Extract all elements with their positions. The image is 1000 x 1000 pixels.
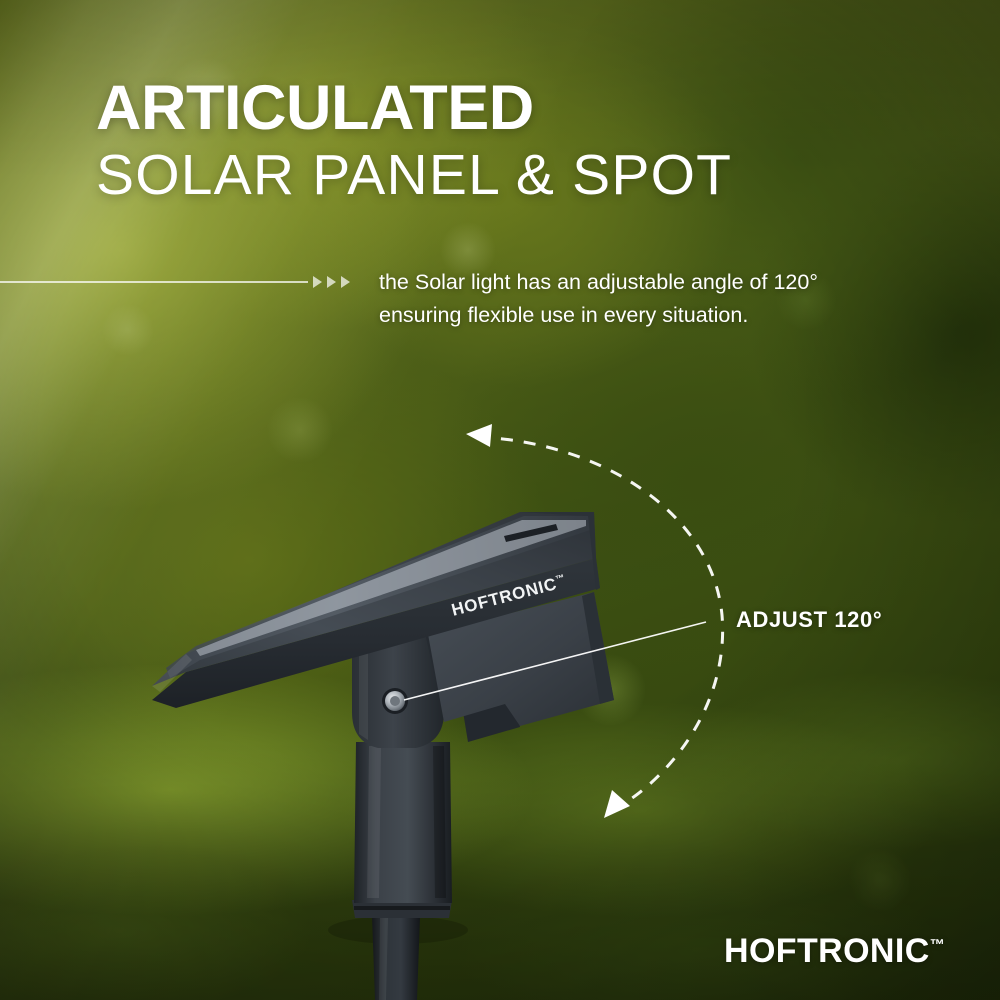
divider-line [0, 281, 308, 283]
brand-tm: ™ [930, 937, 945, 954]
triangle-right-icon [327, 276, 336, 288]
divider [0, 275, 350, 289]
panel-back-plate-edge [582, 592, 614, 704]
ground-stake-post-icon [372, 916, 420, 1000]
hinge-arm [424, 616, 488, 718]
leader-line-icon [404, 622, 706, 700]
post-collar-groove [354, 906, 450, 910]
description-line-2: ensuring flexible use in every situation… [379, 299, 959, 332]
brand-logo: HOFTRONIC™ [724, 932, 945, 971]
product-shadow [328, 916, 468, 944]
headline-block: ARTICULATED SOLAR PANEL & SPOT [96, 76, 732, 206]
product-brand-name: HOFTRONIC [449, 574, 559, 619]
screw-icon [385, 691, 405, 711]
solar-panel-specular [196, 520, 586, 656]
marketing-banner: ARTICULATED SOLAR PANEL & SPOT the Solar… [0, 0, 1000, 1000]
product-brand-tm: ™ [554, 572, 565, 584]
solar-panel-end-cap [520, 512, 600, 590]
page-subtitle: SOLAR PANEL & SPOT [96, 146, 732, 206]
page-title: ARTICULATED [96, 76, 732, 140]
solar-panel-front-face [152, 558, 600, 708]
hinge-highlight [359, 632, 368, 740]
triangle-right-icon [313, 276, 322, 288]
triangle-right-icon [341, 276, 350, 288]
description-line-1: the Solar light has an adjustable angle … [379, 266, 959, 299]
post-highlight [367, 746, 381, 898]
panel-tip-highlight [152, 654, 192, 692]
brand-name: HOFTRONIC [724, 932, 930, 970]
dashed-rotation-arc-icon [478, 437, 723, 808]
panel-vent-slot [504, 524, 558, 542]
arrowhead-down-left-icon [604, 790, 630, 818]
panel-back-plate [428, 592, 614, 726]
rear-bracket [455, 648, 520, 742]
solar-panel-bevel [166, 516, 592, 678]
product-brand-logo: HOFTRONIC™ [449, 572, 568, 621]
post-upper-housing [354, 742, 452, 903]
post-collar [352, 900, 452, 918]
post-shade [433, 746, 446, 898]
description-text: the Solar light has an adjustable angle … [379, 266, 959, 333]
hinge-block [352, 626, 444, 748]
solar-panel-icon [152, 512, 596, 686]
screw-recess [382, 688, 408, 714]
arrowhead-left-icon [466, 424, 492, 447]
adjust-callout-label: ADJUST 120° [736, 607, 882, 633]
screw-head-center [390, 696, 400, 706]
post-lower-highlight [379, 918, 388, 1000]
